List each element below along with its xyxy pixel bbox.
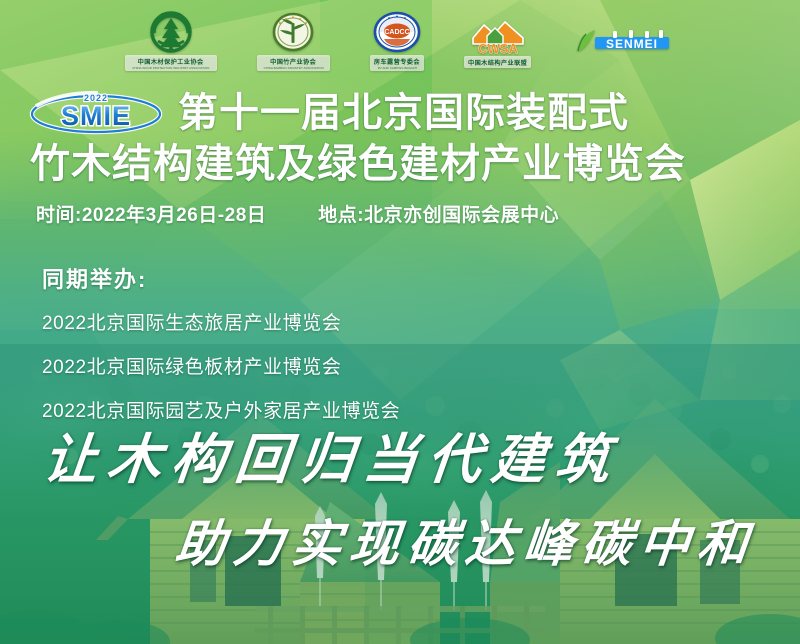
logo-label-cn: 房车露营专委会 <box>374 57 420 66</box>
logo-label-cn: 中国竹产业协会 <box>270 57 316 66</box>
concurrent-events-title: 同期举办: <box>42 262 400 294</box>
smie-logo: 2022 SMIE <box>28 88 170 138</box>
headline-block: 2022 SMIE 第十一届北京国际装配式 竹木结构建筑及绿色建材产业博览会 <box>0 88 800 188</box>
logo-label-cn: 中国木材保护工业协会 <box>138 57 204 66</box>
leaf-sprout-icon: SENMEI <box>571 24 675 58</box>
slogan-line-1: 让木构回归当代建筑 <box>0 415 800 494</box>
slogan-block: 让木构回归当代建筑 助力实现碳达峰碳中和 <box>0 415 800 576</box>
china-wood-protection-industry-association-logo: 中国木材保护工业协会 CHINA WOOD PROTECTION INDUSTR… <box>125 11 217 71</box>
exhibition-poster: 中国木材保护工业协会 CHINA WOOD PROTECTION INDUSTR… <box>0 0 800 644</box>
event-date: 时间:2022年3月26日-28日 <box>36 200 266 227</box>
concurrent-event-item: 2022北京国际生态旅居产业博览会 <box>42 308 400 335</box>
logo-label-en: CHINA BAMBOO INDUSTRY ASSOCIATION <box>263 66 323 70</box>
slogan-line-2: 助力实现碳达峰碳中和 <box>0 504 800 576</box>
house-roof-icon: CWSA <box>467 14 529 56</box>
cwsa-china-wood-structure-association-logo: CWSA 中国木结构产业联盟 <box>464 14 531 68</box>
concurrent-events-block: 同期举办: 2022北京国际生态旅居产业博览会 2022北京国际绿色板材产业博览… <box>42 262 400 423</box>
event-venue: 地点:北京亦创国际会展中心 <box>318 200 559 227</box>
concurrent-event-item: 2022北京国际绿色板材产业博览会 <box>42 352 400 379</box>
headline-line-1: 第十一届北京国际装配式 <box>178 90 629 136</box>
logo-label-cn: 中国木结构产业联盟 <box>468 58 527 67</box>
pine-tree-shield-icon <box>145 11 197 55</box>
svg-text:CWSA: CWSA <box>478 41 518 56</box>
svg-text:SENMEI: SENMEI <box>606 37 658 51</box>
senmei-logo: SENMEI <box>571 24 675 58</box>
cadcc-oval-badge-icon: CADCC <box>370 11 424 55</box>
bamboo-association-logo: 中国竹产业协会 CHINA BAMBOO INDUSTRY ASSOCIATIO… <box>257 11 330 71</box>
cadcc-rv-camping-committee-logo: CADCC 房车露营专委会 RV AND CAMPING BRANCH <box>370 11 424 71</box>
headline-line-2: 竹木结构建筑及绿色建材产业博览会 <box>28 140 786 188</box>
event-info-line: 时间:2022年3月26日-28日 地点:北京亦创国际会展中心 <box>36 200 780 227</box>
logo-label-en: RV AND CAMPING BRANCH <box>377 66 416 70</box>
bamboo-seal-icon <box>268 11 318 55</box>
logo-label-en: CHINA WOOD PROTECTION INDUSTRY ASSOCIATI… <box>132 66 209 70</box>
svg-text:CADCC: CADCC <box>384 29 409 36</box>
smie-wordmark: SMIE <box>61 101 131 131</box>
logo-band: 中国木材保护工业协会 CHINA WOOD PROTECTION INDUSTR… <box>0 0 800 82</box>
